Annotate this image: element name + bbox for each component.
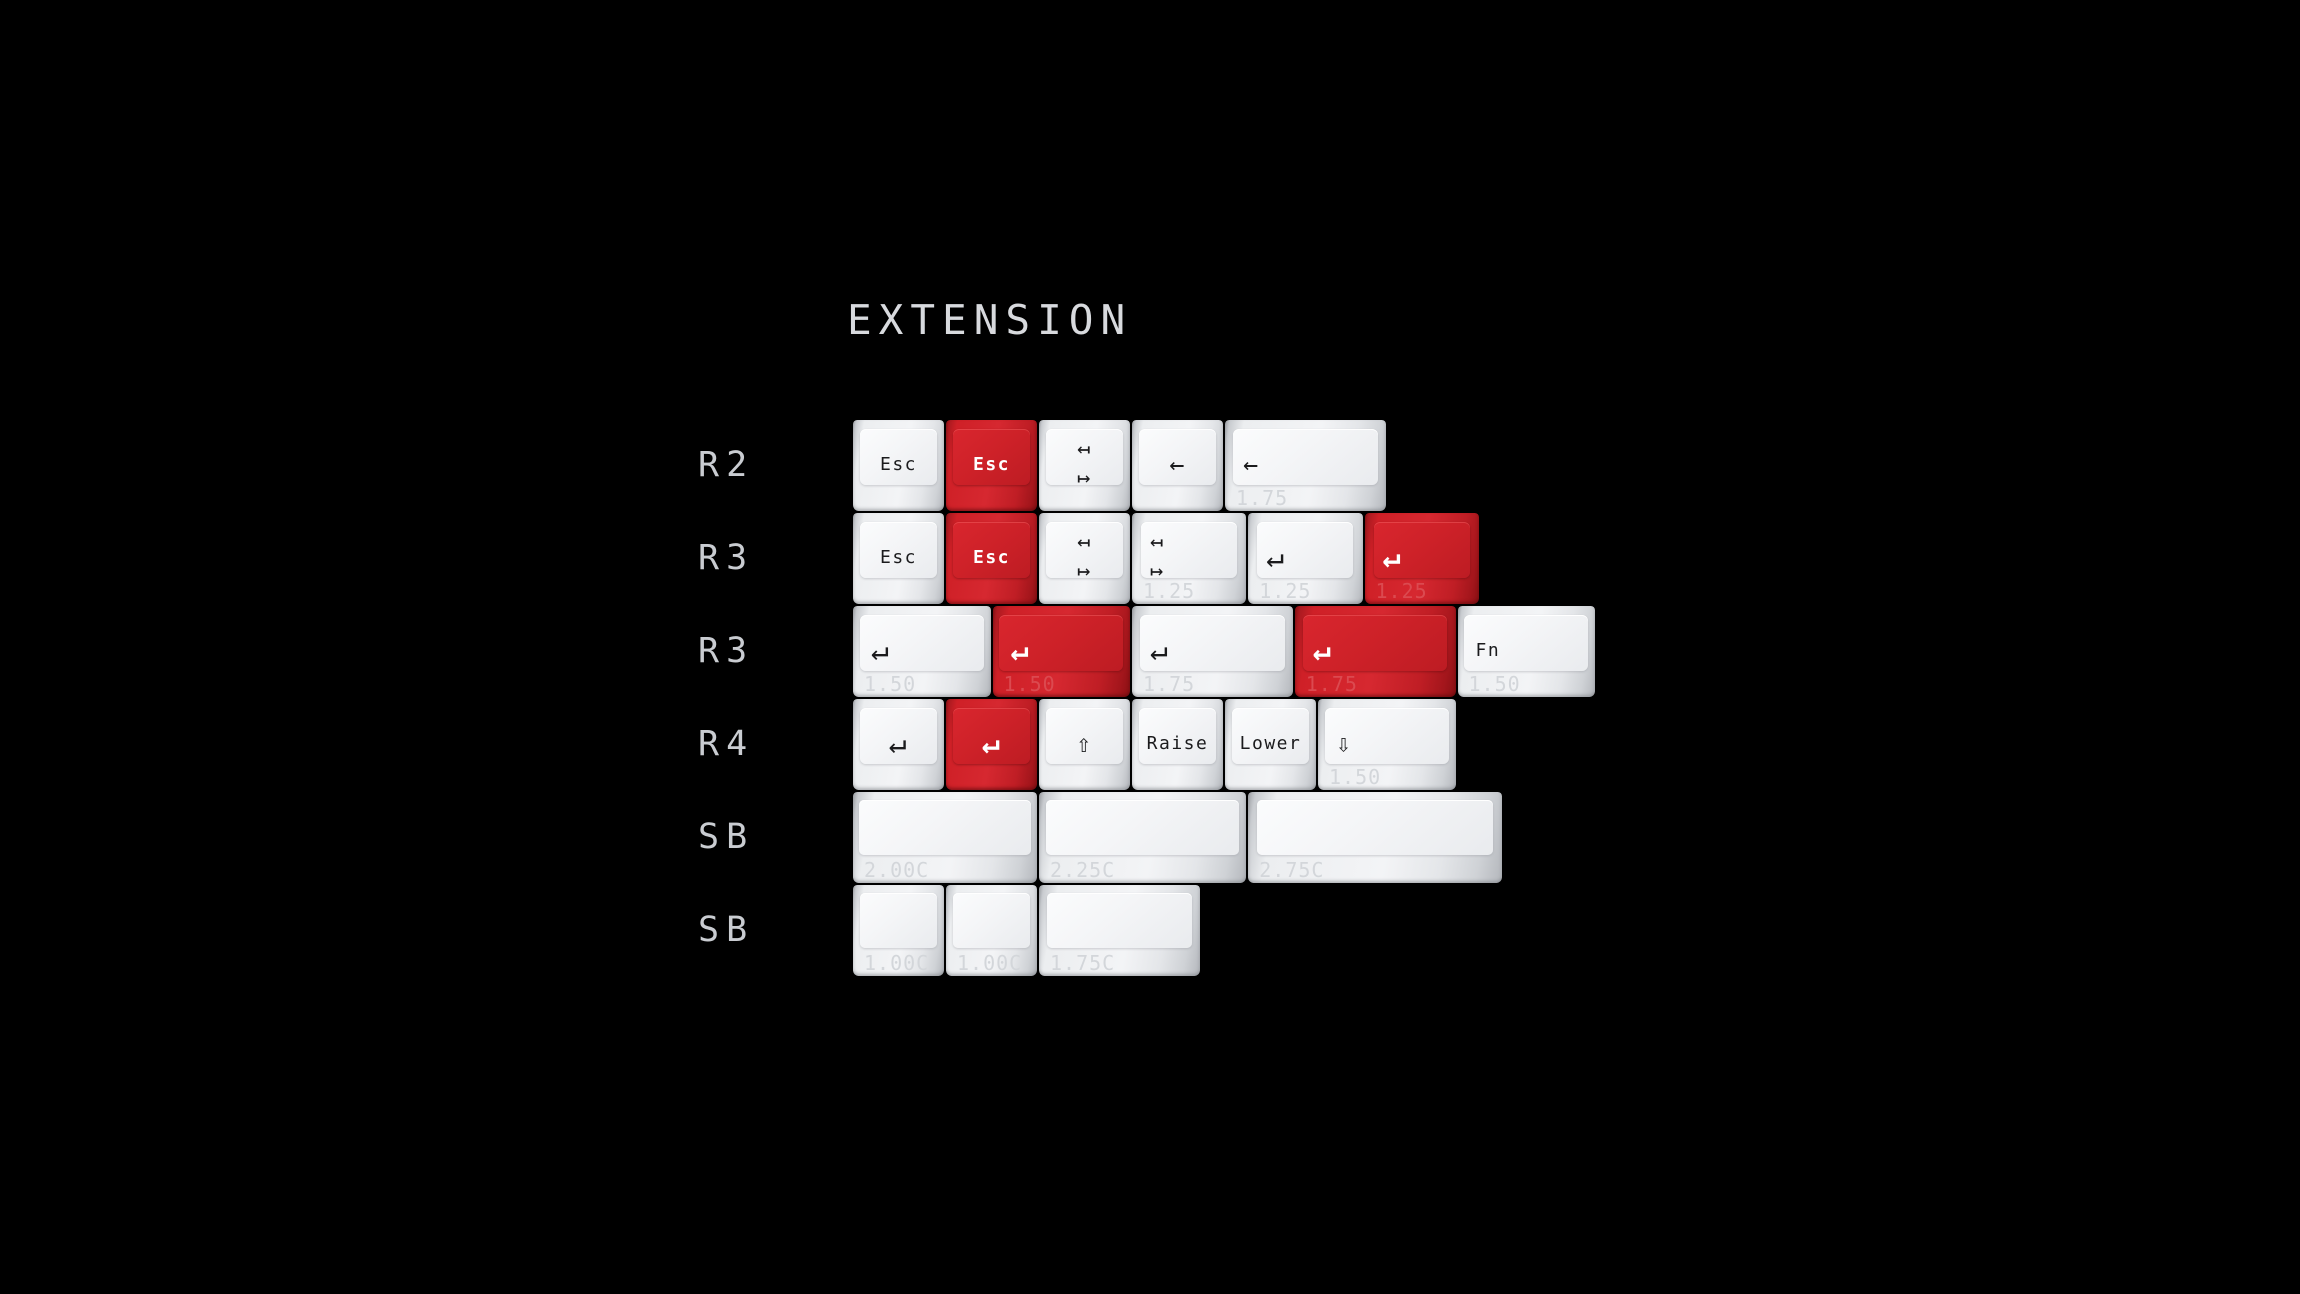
keycap-top-surface xyxy=(953,893,1029,948)
keycap-top-surface xyxy=(1046,800,1239,855)
keycap-lower-legend-r3-4[interactable]: Lower xyxy=(1225,699,1316,790)
row-label-r3-1: R3 xyxy=(698,541,818,576)
keycap-top-surface xyxy=(1141,522,1237,578)
keycap-backspace-arrow-icon-r0-4[interactable]: ←1.75 xyxy=(1225,420,1386,511)
keycap-top-surface xyxy=(999,615,1123,671)
keycap-top-surface xyxy=(1374,522,1470,578)
keycap-top-surface xyxy=(860,708,936,764)
keycap-blank-keycap-r4-0[interactable]: 2.00C xyxy=(853,792,1037,883)
keycap-top-surface xyxy=(860,522,936,578)
keycap-enter-arrow-icon-r3-0[interactable]: ↵ xyxy=(853,699,944,790)
keycap-top-surface xyxy=(1047,893,1192,948)
keycap-tab-both-ways-icon-r0-2[interactable]: ↤ ↦ xyxy=(1039,420,1130,511)
keycap-top-surface xyxy=(860,893,936,948)
row-label-r4-3: R4 xyxy=(698,727,818,762)
keycap-top-surface xyxy=(953,429,1029,485)
keycap-raise-legend-r3-3[interactable]: Raise xyxy=(1132,699,1223,790)
keycap-enter-arrow-icon-r2-1[interactable]: ↵1.50 xyxy=(993,606,1131,697)
keycap-top-surface xyxy=(1303,615,1448,671)
row-label-sb-4: SB xyxy=(698,820,818,855)
keycap-top-surface xyxy=(860,429,936,485)
keycap-esc-legend-r0-0[interactable]: Esc xyxy=(853,420,944,511)
keycap-fn-legend-r2-4[interactable]: Fn1.50 xyxy=(1458,606,1596,697)
keycap-enter-arrow-icon-r3-1[interactable]: ↵ xyxy=(946,699,1037,790)
row-label-r2-0: R2 xyxy=(698,448,818,483)
keycap-tab-both-ways-icon-r1-2[interactable]: ↤ ↦ xyxy=(1039,513,1130,604)
row-label-sb-5: SB xyxy=(698,913,818,948)
keycap-top-surface xyxy=(1233,429,1378,485)
keycap-top-surface xyxy=(859,800,1030,855)
keycap-top-surface xyxy=(1046,522,1122,578)
keycap-top-surface xyxy=(1046,429,1122,485)
keycap-esc-legend-r1-0[interactable]: Esc xyxy=(853,513,944,604)
keycap-enter-arrow-icon-r2-2[interactable]: ↵1.75 xyxy=(1132,606,1293,697)
keycap-top-surface xyxy=(860,615,984,671)
keycap-esc-legend-r0-1[interactable]: Esc xyxy=(946,420,1037,511)
keycap-enter-arrow-icon-r1-5[interactable]: ↵1.25 xyxy=(1365,513,1479,604)
keycap-top-surface xyxy=(1325,708,1449,764)
keycap-enter-arrow-icon-r2-0[interactable]: ↵1.50 xyxy=(853,606,991,697)
keycap-top-surface xyxy=(1232,708,1308,764)
keycap-row-r2-0: EscEsc↤ ↦←←1.75 xyxy=(853,420,1753,511)
keycap-top-surface xyxy=(1139,708,1215,764)
keycap-top-surface xyxy=(1257,800,1493,855)
keycap-blank-keycap-r4-1[interactable]: 2.25C xyxy=(1039,792,1246,883)
keycap-shift-up-arrow-icon-r3-2[interactable]: ⇧ xyxy=(1039,699,1130,790)
keycap-blank-keycap-r5-2[interactable]: 1.75C xyxy=(1039,885,1200,976)
keycap-backspace-arrow-icon-r0-3[interactable]: ← xyxy=(1132,420,1223,511)
keycap-top-surface xyxy=(1139,429,1215,485)
keycap-row-r3-2: ↵1.50↵1.50↵1.75↵1.75Fn1.50 xyxy=(853,606,1753,697)
keycap-tab-both-ways-icon-r1-3[interactable]: ↤ ↦1.25 xyxy=(1132,513,1246,604)
row-label-r3-2: R3 xyxy=(698,634,818,669)
keycap-blank-keycap-r5-0[interactable]: 1.00C xyxy=(853,885,944,976)
keycap-esc-legend-r1-1[interactable]: Esc xyxy=(946,513,1037,604)
keycap-blank-keycap-r4-2[interactable]: 2.75C xyxy=(1248,792,1502,883)
keycap-top-surface xyxy=(1046,708,1122,764)
keycap-row-sb-4: 2.00C2.25C2.75C xyxy=(853,792,1753,883)
page-title: EXTENSION xyxy=(847,300,1132,341)
keycap-row-r4-3: ↵↵⇧RaiseLower⇩1.50 xyxy=(853,699,1753,790)
keycap-top-surface xyxy=(953,522,1029,578)
keycap-top-surface xyxy=(1464,615,1588,671)
keycap-row-r3-1: EscEsc↤ ↦↤ ↦1.25↵1.25↵1.25 xyxy=(853,513,1753,604)
keycap-row-sb-5: 1.00C1.00C1.75C xyxy=(853,885,1753,976)
keycap-blank-keycap-r5-1[interactable]: 1.00C xyxy=(946,885,1037,976)
keycap-enter-arrow-icon-r2-3[interactable]: ↵1.75 xyxy=(1295,606,1456,697)
keycap-top-surface xyxy=(1257,522,1353,578)
keycap-top-surface xyxy=(1140,615,1285,671)
keycap-top-surface xyxy=(953,708,1029,764)
keycap-enter-arrow-icon-r1-4[interactable]: ↵1.25 xyxy=(1248,513,1362,604)
keycap-shift-down-arrow-icon-r3-5[interactable]: ⇩1.50 xyxy=(1318,699,1456,790)
